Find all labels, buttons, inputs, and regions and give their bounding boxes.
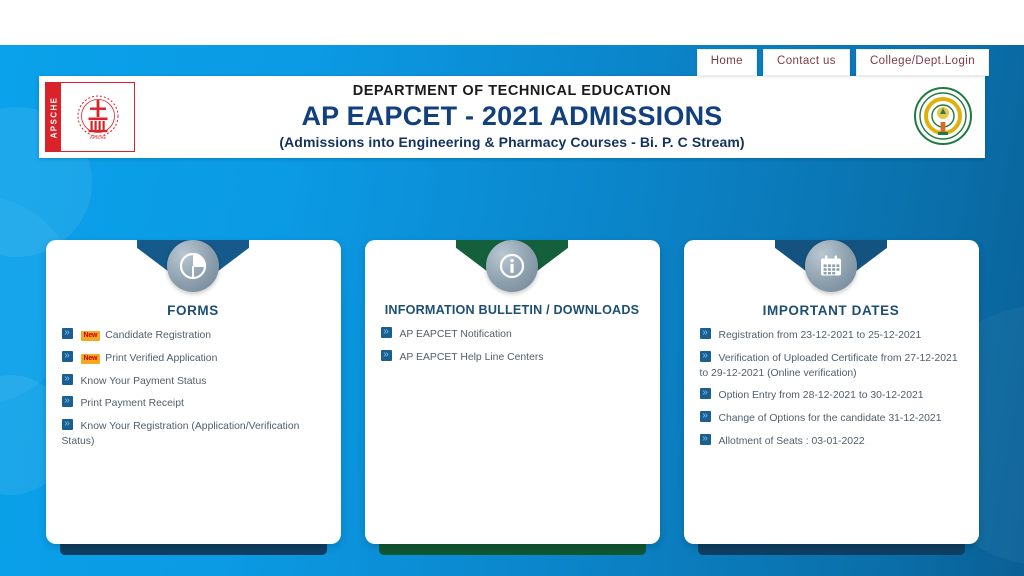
list-item-label: Change of Options for the candidate 31-1…	[719, 413, 942, 424]
header-titles: DEPARTMENT OF TECHNICAL EDUCATION AP EAP…	[39, 82, 985, 151]
list-item-label: AP EAPCET Notification	[400, 329, 512, 340]
andhra-pradesh-government-emblem-icon	[911, 84, 975, 148]
list-item-label: Candidate Registration	[105, 330, 211, 341]
arrow-bullet-icon	[381, 350, 392, 361]
important-dates-card-body: IMPORTANT DATES Registration from 23-12-…	[684, 240, 979, 544]
info-icon	[486, 240, 538, 292]
important-dates-card: IMPORTANT DATES Registration from 23-12-…	[684, 218, 979, 544]
list-item-label: Print Verified Application	[105, 353, 217, 364]
list-item[interactable]: AP EAPCET Help Line Centers	[381, 350, 646, 366]
arrow-bullet-icon	[62, 328, 73, 339]
nav-home[interactable]: Home	[697, 49, 757, 76]
top-white-strip	[0, 0, 1024, 45]
calendar-icon	[805, 240, 857, 292]
card-title: FORMS	[46, 303, 341, 318]
arrow-bullet-icon	[700, 328, 711, 339]
information-bulletin-card: INFORMATION BULLETIN / DOWNLOADS AP EAPC…	[365, 218, 660, 544]
arrow-bullet-icon	[62, 419, 73, 430]
apsche-logo-text: APSCHE	[49, 96, 58, 138]
list-item[interactable]: Know Your Payment Status	[62, 374, 327, 390]
information-bulletin-card-body: INFORMATION BULLETIN / DOWNLOADS AP EAPC…	[365, 240, 660, 544]
arrow-bullet-icon	[700, 411, 711, 422]
list-item[interactable]: NewCandidate Registration	[62, 328, 327, 344]
list-item-label: Registration from 23-12-2021 to 25-12-20…	[719, 330, 922, 341]
department-line: DEPARTMENT OF TECHNICAL EDUCATION	[59, 82, 965, 100]
header-banner: APSCHE APSCHE DEPARTMENT	[39, 76, 985, 158]
list-item[interactable]: Verification of Uploaded Certificate fro…	[700, 351, 965, 382]
nav-college-dept-login[interactable]: College/Dept.Login	[856, 49, 989, 76]
list-item[interactable]: Know Your Registration (Application/Veri…	[62, 419, 327, 450]
cards-row: FORMS NewCandidate Registration NewPrint…	[0, 218, 1024, 544]
list-item-label: Print Payment Receipt	[81, 398, 184, 409]
information-bulletin-list: AP EAPCET Notification AP EAPCET Help Li…	[365, 327, 660, 366]
top-navigation: Home Contact us College/Dept.Login	[697, 49, 989, 76]
arrow-bullet-icon	[62, 396, 73, 407]
arrow-bullet-icon	[700, 388, 711, 399]
pie-chart-icon	[167, 240, 219, 292]
list-item[interactable]: Registration from 23-12-2021 to 25-12-20…	[700, 328, 965, 344]
apsche-logo-strip: APSCHE	[46, 83, 61, 151]
nav-contact-us[interactable]: Contact us	[763, 49, 850, 76]
list-item[interactable]: Allotment of Seats : 03-01-2022	[700, 434, 965, 450]
list-item-label: Verification of Uploaded Certificate fro…	[700, 353, 958, 379]
list-item[interactable]: NewPrint Verified Application	[62, 351, 327, 367]
arrow-bullet-icon	[381, 327, 392, 338]
page-subtitle: (Admissions into Engineering & Pharmacy …	[59, 134, 965, 152]
forms-card: FORMS NewCandidate Registration NewPrint…	[46, 218, 341, 544]
forms-list: NewCandidate Registration NewPrint Verif…	[46, 328, 341, 450]
card-title: INFORMATION BULLETIN / DOWNLOADS	[365, 303, 660, 317]
list-item[interactable]: Change of Options for the candidate 31-1…	[700, 411, 965, 427]
important-dates-list: Registration from 23-12-2021 to 25-12-20…	[684, 328, 979, 450]
arrow-bullet-icon	[700, 351, 711, 362]
new-badge: New	[81, 331, 101, 341]
list-item-label: Know Your Registration	[81, 421, 189, 432]
list-item[interactable]: Print Payment Receipt	[62, 396, 327, 412]
list-item[interactable]: AP EAPCET Notification	[381, 327, 646, 343]
list-item-label: Allotment of Seats : 03-01-2022	[719, 436, 865, 447]
svg-text:APSCHE: APSCHE	[89, 135, 105, 140]
list-item-label: AP EAPCET Help Line Centers	[400, 352, 544, 363]
list-item-label: Know Your Payment Status	[81, 376, 207, 387]
arrow-bullet-icon	[62, 351, 73, 362]
forms-card-body: FORMS NewCandidate Registration NewPrint…	[46, 240, 341, 544]
page-title: AP EAPCET - 2021 ADMISSIONS	[59, 101, 965, 133]
new-badge: New	[81, 354, 101, 364]
apsche-logo: APSCHE APSCHE	[45, 82, 135, 152]
apsche-emblem-icon: APSCHE	[61, 83, 134, 151]
page-root: Home Contact us College/Dept.Login APSCH…	[0, 0, 1024, 576]
list-item[interactable]: Option Entry from 28-12-2021 to 30-12-20…	[700, 388, 965, 404]
arrow-bullet-icon	[62, 374, 73, 385]
list-item-label: Option Entry from 28-12-2021 to 30-12-20…	[719, 390, 924, 401]
card-title: IMPORTANT DATES	[684, 303, 979, 318]
arrow-bullet-icon	[700, 434, 711, 445]
